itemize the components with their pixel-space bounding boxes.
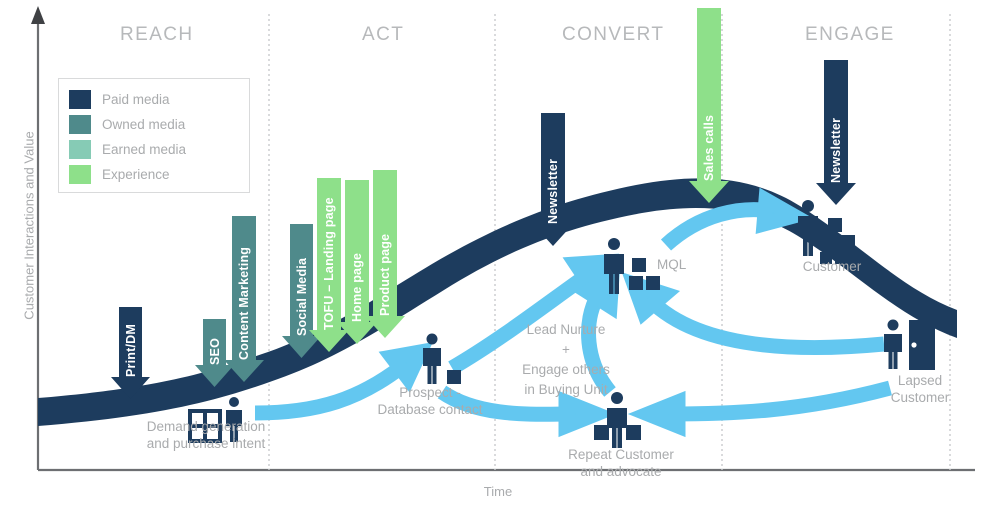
touchpoint-label-newsletter-convert: Newsletter [546, 159, 560, 224]
node-caption-prospect: Prospect - Database contact [369, 384, 491, 418]
lapsed-customer-line-1: Lapsed [884, 372, 956, 389]
legend-swatch-earned-media [69, 140, 91, 159]
prospect-line-2: Database contact [369, 401, 491, 418]
flow-mql-to-customer [666, 210, 772, 245]
lifecycle-wave [38, 178, 957, 426]
flow-lapsed-to-mql [650, 300, 884, 348]
node-caption-demand-generation: Demand generation and purchase intent [131, 418, 281, 452]
legend-label-paid-media: Paid media [102, 92, 170, 107]
legend-item-experience: Experience [69, 162, 239, 187]
node-caption-lapsed-customer: Lapsed Customer [884, 372, 956, 406]
lead-nurture-note: Lead Nurture + Engage others in Buying U… [506, 320, 626, 400]
x-axis-title: Time [443, 484, 553, 499]
stage-label-convert: CONVERT [562, 24, 664, 46]
customer-lifecycle-diagram: REACH ACT CONVERT ENGAGE Paid media Owne… [0, 0, 995, 505]
icon-person-six-blocks [798, 200, 862, 264]
demand-generation-line-2: and purchase intent [131, 435, 281, 452]
y-axis-title: Customer Interactions and Value [22, 111, 37, 341]
legend-item-paid-media: Paid media [69, 87, 239, 112]
touchpoint-label-product-page: Product page [378, 234, 392, 316]
legend-swatch-experience [69, 165, 91, 184]
legend-item-earned-media: Earned media [69, 137, 239, 162]
node-caption-mql: MQL [657, 256, 701, 273]
touchpoint-label-seo: SEO [208, 338, 222, 365]
stage-label-engage: ENGAGE [805, 24, 895, 46]
touchpoint-label-tofu-landing-page: TOFU – Landing page [322, 197, 336, 330]
legend-swatch-owned-media [69, 115, 91, 134]
lead-nurture-line-3: Engage others [506, 360, 626, 380]
stage-label-reach: REACH [120, 24, 194, 46]
lead-nurture-line-2: + [506, 340, 626, 360]
media-legend: Paid media Owned media Earned media Expe… [58, 78, 250, 193]
icon-person-three-blocks [604, 238, 660, 294]
legend-item-owned-media: Owned media [69, 112, 239, 137]
repeat-customer-line-1: Repeat Customer [556, 446, 686, 463]
icon-person-door [884, 320, 935, 371]
touchpoint-label-content-marketing: Content Marketing [237, 247, 251, 360]
touchpoint-label-home-page: Home page [350, 253, 364, 322]
prospect-line-1: Prospect - [369, 384, 491, 401]
stage-label-act: ACT [362, 24, 404, 46]
touchpoint-label-newsletter-engage: Newsletter [829, 118, 843, 183]
node-caption-repeat-customer: Repeat Customer and advocate [556, 446, 686, 480]
legend-label-earned-media: Earned media [102, 142, 186, 157]
lead-nurture-line-4: in Buying Unit [506, 380, 626, 400]
node-caption-customer: Customer [797, 258, 867, 275]
repeat-customer-line-2: and advocate [556, 463, 686, 480]
legend-swatch-paid-media [69, 90, 91, 109]
touchpoint-label-social-media: Social Media [295, 258, 309, 336]
legend-label-experience: Experience [102, 167, 170, 182]
lapsed-customer-line-2: Customer [884, 389, 956, 406]
touchpoint-label-print-dm: Print/DM [124, 324, 138, 377]
demand-generation-line-1: Demand generation [131, 418, 281, 435]
legend-label-owned-media: Owned media [102, 117, 185, 132]
lead-nurture-line-1: Lead Nurture [506, 320, 626, 340]
touchpoint-label-sales-calls: Sales calls [702, 115, 716, 181]
flow-lapsed-to-repeat [670, 388, 890, 414]
